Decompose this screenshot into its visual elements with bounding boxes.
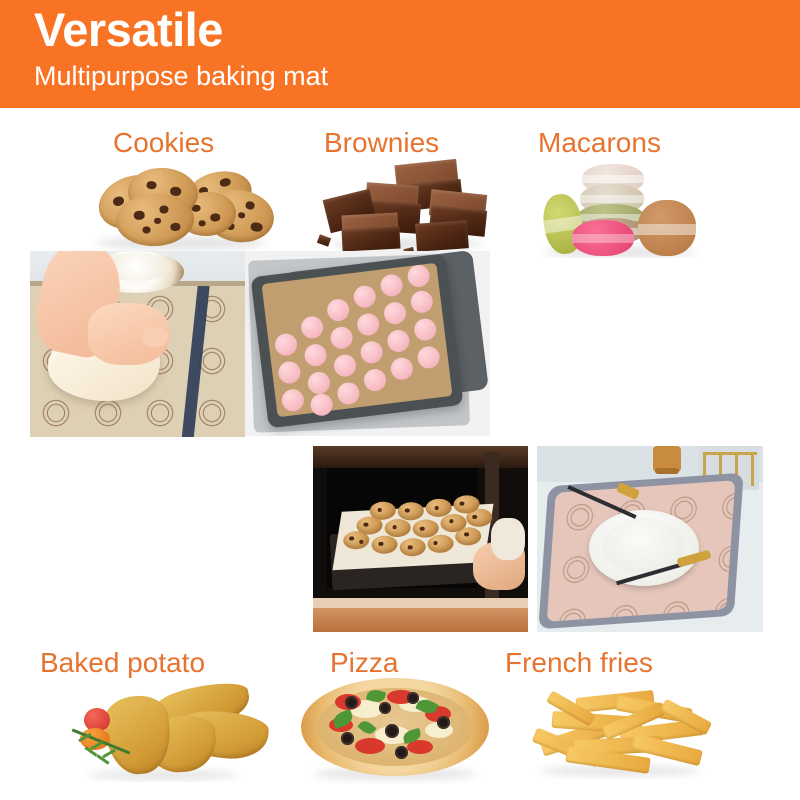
macarons-photo [534,162,712,258]
page-title: Versatile [34,2,800,58]
pizza-photo [295,672,495,784]
macaron-tray-photo [245,251,490,436]
caption-cookies: Cookies [113,126,214,160]
caption-macarons: Macarons [538,126,661,160]
brownies-photo [312,156,508,256]
dough-kneading-photo [30,251,245,437]
caption-brownies: Brownies [324,126,439,160]
cookies-photo [82,162,278,254]
header-banner: Versatile Multipurpose baking mat [0,0,800,108]
page-subtitle: Multipurpose baking mat [34,58,800,94]
oven-cookies-photo [313,446,528,632]
french-fries-photo [520,684,728,780]
infographic-canvas: Versatile Multipurpose baking mat Cookie… [0,0,800,800]
caption-baked-potato: Baked potato [40,646,205,680]
caption-french-fries: French fries [505,646,653,680]
placemat-photo [537,446,763,632]
baked-potato-photo [62,682,274,782]
